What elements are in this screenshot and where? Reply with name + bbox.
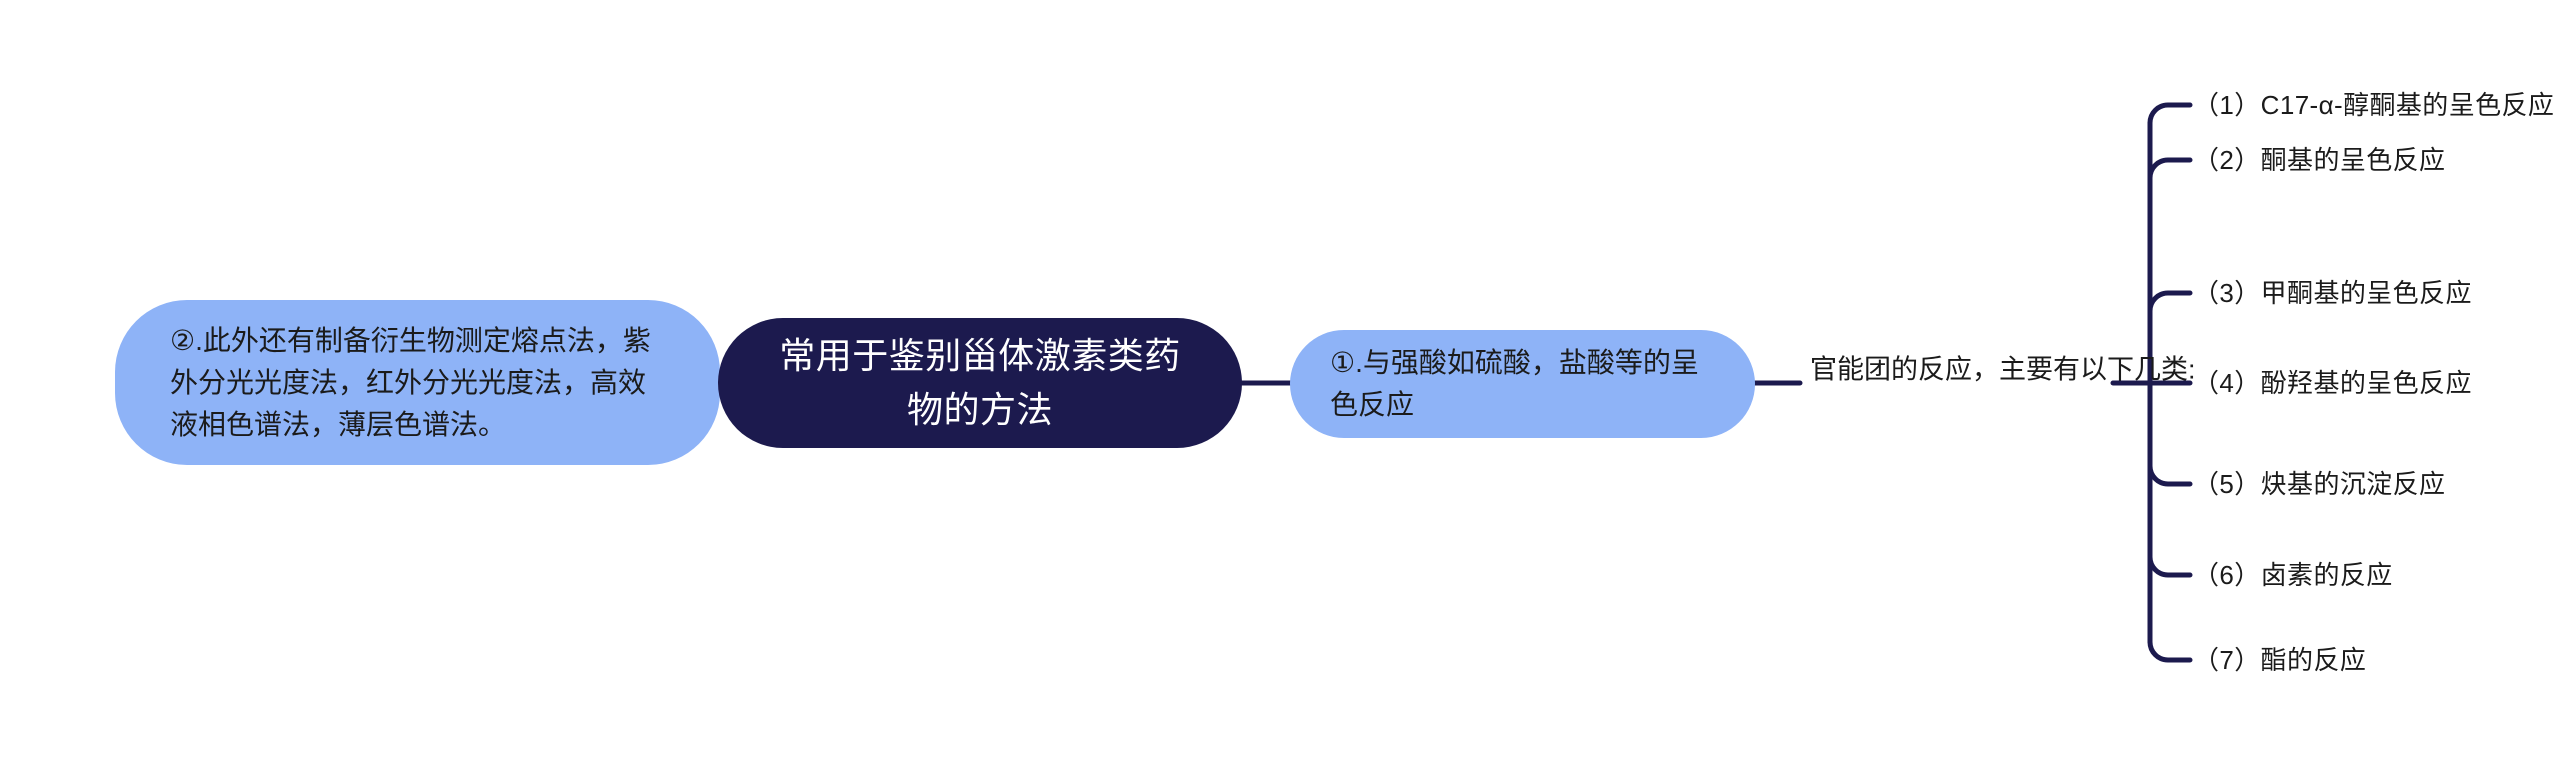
- bracket-stub-7: [2150, 642, 2190, 660]
- sub-item-6[interactable]: （6）卤素的反应: [2193, 562, 2393, 588]
- bracket-stub-1: [2150, 105, 2190, 123]
- bracket-stub-5: [2150, 466, 2190, 484]
- branch-node-left-1[interactable]: ②.此外还有制备衍生物测定熔点法，紫外分光光度法，红外分光光度法，高效液相色谱法…: [115, 300, 720, 465]
- sub-item-5[interactable]: （5）炔基的沉淀反应: [2193, 471, 2445, 497]
- sub-item-4[interactable]: （4）酚羟基的呈色反应: [2193, 370, 2472, 396]
- branch-node-left-1-label: ②.此外还有制备衍生物测定熔点法，紫外分光光度法，红外分光光度法，高效液相色谱法…: [170, 320, 665, 446]
- bracket-stub-6: [2150, 557, 2190, 575]
- branch-node-right-1-label: ①.与强酸如硫酸，盐酸等的呈色反应: [1330, 342, 1715, 426]
- mindmap-canvas: ②.此外还有制备衍生物测定熔点法，紫外分光光度法，红外分光光度法，高效液相色谱法…: [0, 0, 2560, 760]
- sub-item-1[interactable]: （1）C17-α-醇酮基的呈色反应: [2193, 92, 2554, 118]
- root-node[interactable]: 常用于鉴别甾体激素类药物的方法: [718, 318, 1242, 448]
- bracket-stub-2: [2150, 160, 2190, 178]
- group-label-functional-groups[interactable]: 官能团的反应，主要有以下几类:: [1810, 357, 2196, 384]
- branch-node-right-1[interactable]: ①.与强酸如硫酸，盐酸等的呈色反应: [1290, 330, 1755, 438]
- sub-item-7[interactable]: （7）酯的反应: [2193, 647, 2366, 673]
- sub-item-2[interactable]: （2）酮基的呈色反应: [2193, 147, 2445, 173]
- bracket-stub-3: [2150, 293, 2190, 311]
- root-node-label: 常用于鉴别甾体激素类药物的方法: [764, 329, 1196, 437]
- sub-item-3[interactable]: （3）甲酮基的呈色反应: [2193, 280, 2472, 306]
